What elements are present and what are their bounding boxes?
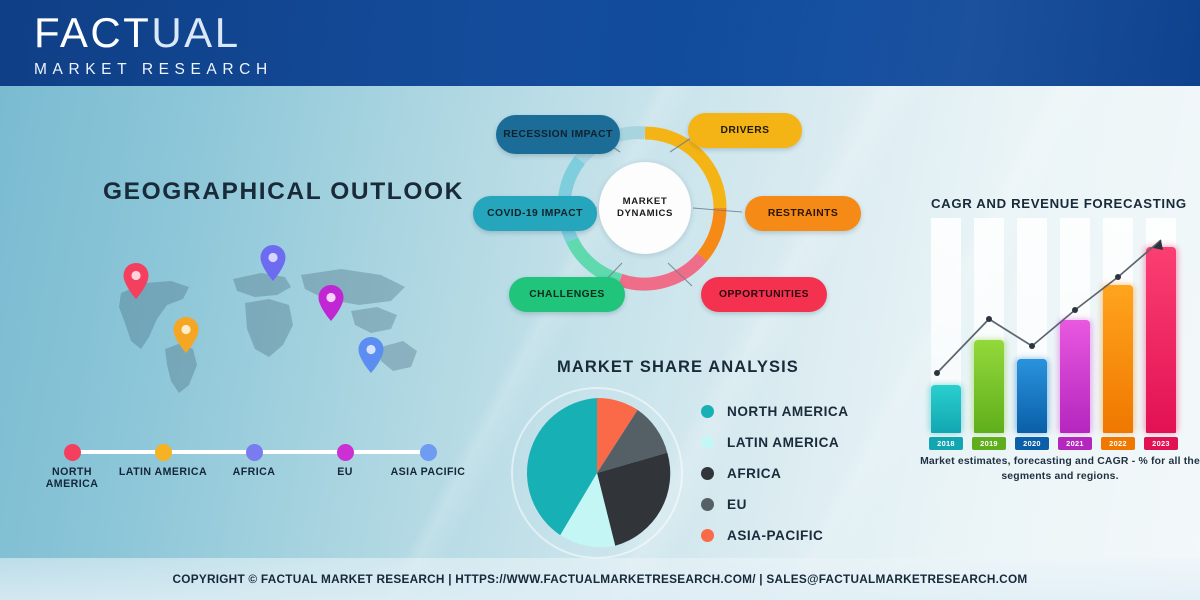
- cagr-caption: Market estimates, forecasting and CAGR -…: [917, 454, 1200, 484]
- cagr-trend-line: [925, 218, 1195, 448]
- year-tag-2021-label: 2021: [1066, 439, 1084, 448]
- year-tag-2020-label: 2020: [1023, 439, 1041, 448]
- market-share-chart: NORTH AMERICA LATIN AMERICA AFRICA EU AS…: [505, 390, 855, 560]
- node-covid-19-impact-label: COVID-19 IMPACT: [487, 208, 583, 220]
- legend-item-asia-pacific[interactable]: ASIA-PACIFIC: [701, 528, 823, 543]
- logo-secondary: MARKET RESEARCH: [34, 61, 273, 79]
- pie-svg: [519, 395, 675, 551]
- scale-label-eu: EU: [298, 466, 392, 478]
- node-recession-impact-label: RECESSION IMPACT: [503, 129, 612, 141]
- scale-node-north-america[interactable]: [64, 444, 81, 461]
- legend-label-north-america: NORTH AMERICA: [727, 404, 849, 419]
- legend-item-eu[interactable]: EU: [701, 497, 747, 512]
- cagr-forecast-title: CAGR AND REVENUE FORECASTING: [931, 196, 1187, 211]
- scale-label-north-america: NORTH AMERICA: [25, 466, 119, 490]
- hub-label-line2: DYNAMICS: [617, 208, 673, 220]
- legend-swatch-asia-pacific: [701, 529, 714, 542]
- geographical-outlook-title: GEOGRAPHICAL OUTLOOK: [103, 178, 464, 206]
- year-tag-2018-label: 2018: [937, 439, 955, 448]
- legend-item-north-america[interactable]: NORTH AMERICA: [701, 404, 849, 419]
- node-covid-19-impact[interactable]: COVID-19 IMPACT: [473, 196, 597, 231]
- year-tag-2022-label: 2022: [1109, 439, 1127, 448]
- year-tag-2019: 2019: [972, 437, 1006, 450]
- node-drivers-label: DRIVERS: [721, 125, 770, 137]
- cagr-forecast-chart: 2018 2019 2020 2021 2022 2023 Market est…: [925, 218, 1195, 488]
- legend-swatch-latin-america: [701, 436, 714, 449]
- legend-label-eu: EU: [727, 497, 747, 512]
- year-tag-2021: 2021: [1058, 437, 1092, 450]
- brand-logo: FACTUAL MARKET RESEARCH: [34, 12, 273, 79]
- world-map: [105, 245, 435, 395]
- page-footer: COPYRIGHT © FACTUAL MARKET RESEARCH | HT…: [0, 558, 1200, 600]
- node-opportunities-label: OPPORTUNITIES: [719, 289, 809, 301]
- scale-label-asia-pacific: ASIA PACIFIC: [381, 466, 475, 478]
- year-tag-2019-label: 2019: [980, 439, 998, 448]
- europe-pin: [260, 245, 286, 281]
- market-dynamics-hub: MARKET DYNAMICS: [599, 162, 691, 254]
- year-tag-2023-label: 2023: [1152, 439, 1170, 448]
- north-america-pin: [123, 263, 149, 299]
- node-opportunities[interactable]: OPPORTUNITIES: [701, 277, 827, 312]
- latin-america-pin: [173, 317, 199, 353]
- scale-node-asia-pacific[interactable]: [420, 444, 437, 461]
- node-restraints[interactable]: RESTRAINTS: [745, 196, 861, 231]
- infographic-page: FACTUAL MARKET RESEARCH GEOGRAPHICAL OUT…: [0, 0, 1200, 600]
- africa-eu-pin: [318, 285, 344, 321]
- year-tag-2018: 2018: [929, 437, 963, 450]
- asia-pacific-pin: [358, 337, 384, 373]
- region-scale-legend: NORTH AMERICA LATIN AMERICA AFRICA EU AS…: [46, 440, 446, 500]
- scale-node-latin-america[interactable]: [155, 444, 172, 461]
- logo-primary-light: UAL: [151, 9, 240, 56]
- pie-slices: [527, 398, 670, 547]
- scale-node-eu[interactable]: [337, 444, 354, 461]
- logo-primary-bold: FACT: [34, 9, 151, 56]
- legend-item-africa[interactable]: AFRICA: [701, 466, 781, 481]
- footer-copyright-text: COPYRIGHT © FACTUAL MARKET RESEARCH | HT…: [173, 572, 1028, 586]
- year-tag-2023: 2023: [1144, 437, 1178, 450]
- header-sheen: [680, 0, 1200, 86]
- node-challenges-label: CHALLENGES: [529, 289, 604, 301]
- legend-swatch-africa: [701, 467, 714, 480]
- page-header: FACTUAL MARKET RESEARCH: [0, 0, 1200, 86]
- market-dynamics-diagram: RECESSION IMPACT DRIVERS COVID-19 IMPACT…: [470, 100, 870, 335]
- legend-swatch-eu: [701, 498, 714, 511]
- scale-label-latin-america: LATIN AMERICA: [116, 466, 210, 478]
- node-restraints-label: RESTRAINTS: [768, 208, 838, 220]
- scale-label-africa: AFRICA: [207, 466, 301, 478]
- year-tag-2022: 2022: [1101, 437, 1135, 450]
- node-recession-impact[interactable]: RECESSION IMPACT: [496, 115, 620, 154]
- year-tag-2020: 2020: [1015, 437, 1049, 450]
- logo-primary: FACTUAL: [34, 12, 273, 54]
- hub-label-line1: MARKET: [617, 196, 673, 208]
- market-share-title: MARKET SHARE ANALYSIS: [557, 358, 799, 377]
- legend-label-asia-pacific: ASIA-PACIFIC: [727, 528, 823, 543]
- legend-swatch-north-america: [701, 405, 714, 418]
- legend-label-latin-america: LATIN AMERICA: [727, 435, 839, 450]
- legend-item-latin-america[interactable]: LATIN AMERICA: [701, 435, 839, 450]
- scale-node-africa[interactable]: [246, 444, 263, 461]
- node-challenges[interactable]: CHALLENGES: [509, 277, 625, 312]
- legend-label-africa: AFRICA: [727, 466, 781, 481]
- node-drivers[interactable]: DRIVERS: [688, 113, 802, 148]
